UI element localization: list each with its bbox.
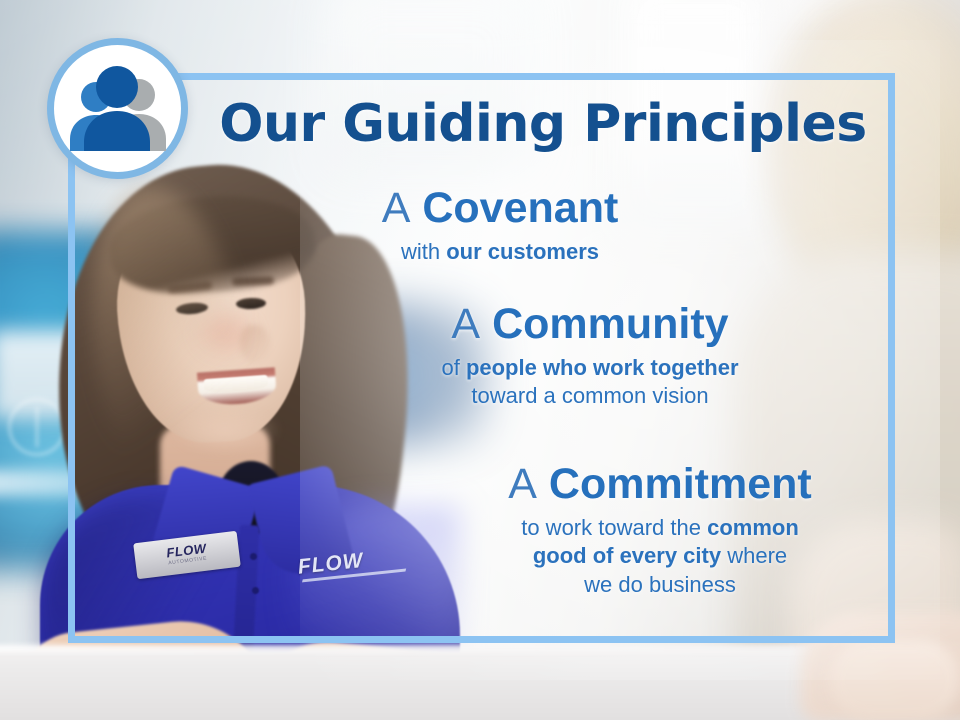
principle-subtext-lite: of (441, 355, 465, 380)
principle-subtext-lite-2: where (721, 543, 787, 568)
principle-subtext-bold-2: good of every city (533, 543, 721, 568)
poster-canvas: FLOW AUTOMOTIVE FLOW (0, 0, 960, 720)
principle-keyword: Covenant (422, 184, 618, 232)
principle-subtext-covenant: with our customers (300, 238, 700, 267)
principle-subtext-bold: people who work together (466, 355, 739, 380)
principle-subtext-bold: our customers (446, 239, 599, 264)
principle-subtext-lite-3: we do business (584, 572, 736, 597)
principle-subtext-bold: common (707, 515, 799, 540)
principle-block-commitment: A Commitment to work toward the common g… (430, 462, 890, 600)
principle-heading-community: A Community (350, 302, 830, 347)
page-title: Our Guiding Principles (213, 98, 873, 150)
principle-heading-commitment: A Commitment (430, 462, 890, 507)
principle-keyword: Commitment (549, 460, 812, 508)
principle-article: A (508, 460, 537, 508)
principle-block-community: A Community of people who work together … (350, 302, 830, 411)
title-block: Our Guiding Principles (213, 98, 873, 150)
principle-block-covenant: A Covenant with our customers (300, 186, 700, 266)
principle-article: A (451, 300, 480, 348)
principle-subtext-lite-2: toward a common vision (471, 383, 708, 408)
people-group-icon (47, 38, 188, 179)
principle-subtext-community: of people who work together toward a com… (350, 354, 830, 411)
principle-subtext-commitment: to work toward the common good of every … (430, 514, 890, 600)
principle-subtext-lite: to work toward the (521, 515, 707, 540)
principle-subtext-lite: with (401, 239, 446, 264)
principle-article: A (382, 184, 411, 232)
principle-heading-covenant: A Covenant (300, 186, 700, 231)
principle-keyword: Community (492, 300, 729, 348)
